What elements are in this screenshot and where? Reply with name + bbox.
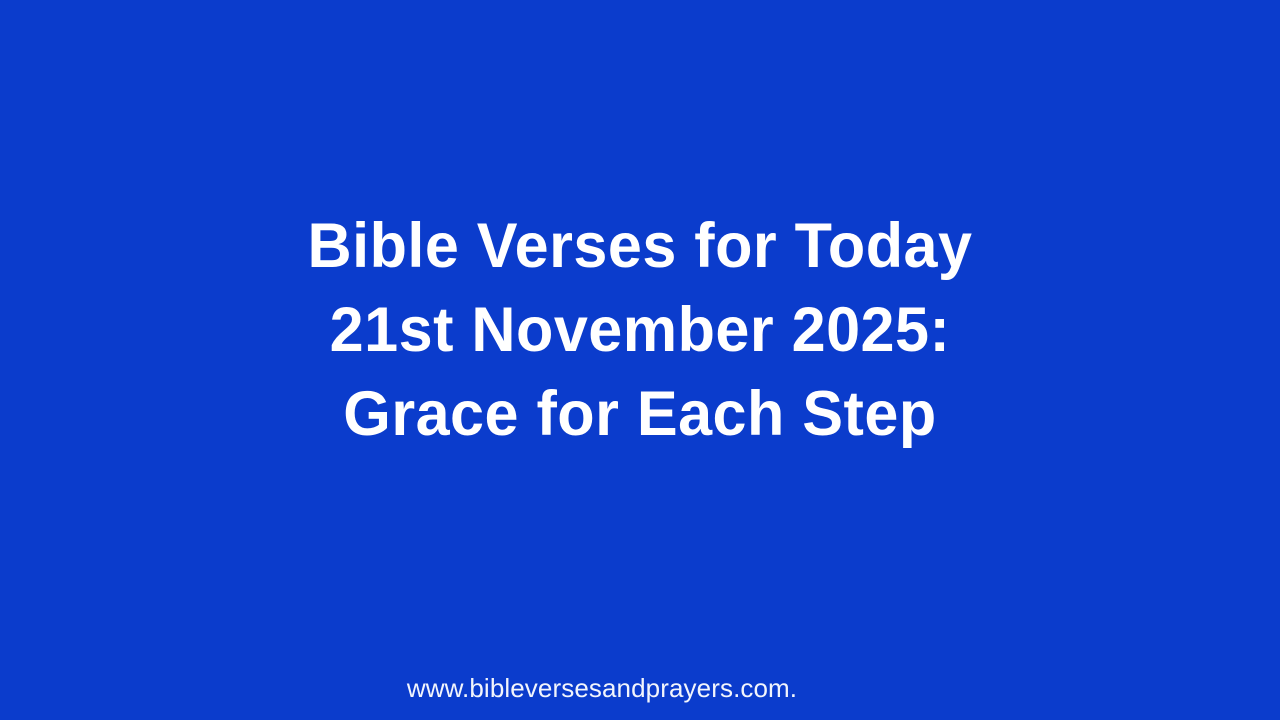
page-title: Bible Verses for Today 21st November 202… [0, 204, 1280, 456]
footer: www.bibleversesandprayers.com. [0, 672, 1280, 704]
title-line-3: Grace for Each Step [136, 372, 1145, 456]
title-line-2: 21st November 2025: [136, 288, 1145, 372]
title-line-1: Bible Verses for Today [136, 204, 1145, 288]
website-url: www.bibleversesandprayers.com. [407, 672, 797, 704]
slide-canvas: Bible Verses for Today 21st November 202… [0, 0, 1280, 720]
